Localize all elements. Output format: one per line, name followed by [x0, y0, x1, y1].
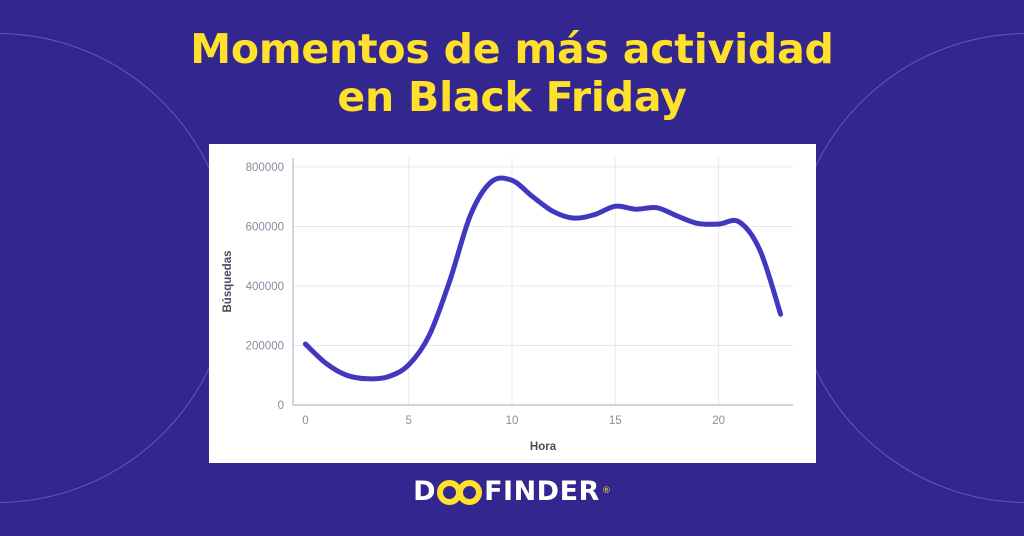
y-tick-label: 200000: [246, 340, 284, 352]
x-tick-label: 0: [302, 415, 308, 427]
y-axis-title: Búsquedas: [222, 251, 234, 313]
activity-line-chart: 020000040000060000080000005101520Búsqued…: [209, 144, 816, 463]
chart-container: 020000040000060000080000005101520Búsqued…: [209, 144, 816, 463]
logo-prefix: D: [413, 478, 436, 505]
logo-suffix: FINDER: [484, 478, 600, 505]
chart-card: 020000040000060000080000005101520Búsqued…: [209, 144, 816, 463]
y-tick-label: 600000: [246, 221, 284, 233]
title-line-2: en Black Friday: [0, 74, 1024, 122]
x-tick-label: 10: [506, 415, 519, 427]
x-tick-label: 20: [712, 415, 725, 427]
x-axis-title: Hora: [530, 441, 557, 453]
registered-trademark-icon: ®: [602, 487, 611, 496]
x-tick-label: 15: [609, 415, 622, 427]
brand-logo: D FINDER ®: [0, 474, 1024, 508]
infinity-rings-icon: [437, 478, 483, 505]
y-tick-label: 400000: [246, 281, 284, 293]
logo-wordmark: D FINDER ®: [413, 474, 611, 508]
x-tick-label: 5: [405, 415, 411, 427]
page-title: Momentos de más actividad en Black Frida…: [0, 26, 1024, 121]
y-tick-label: 800000: [246, 162, 284, 174]
poster-canvas: Momentos de más actividad en Black Frida…: [0, 0, 1024, 536]
title-line-1: Momentos de más actividad: [0, 26, 1024, 74]
y-tick-label: 0: [278, 400, 284, 412]
series-line: [305, 178, 780, 379]
